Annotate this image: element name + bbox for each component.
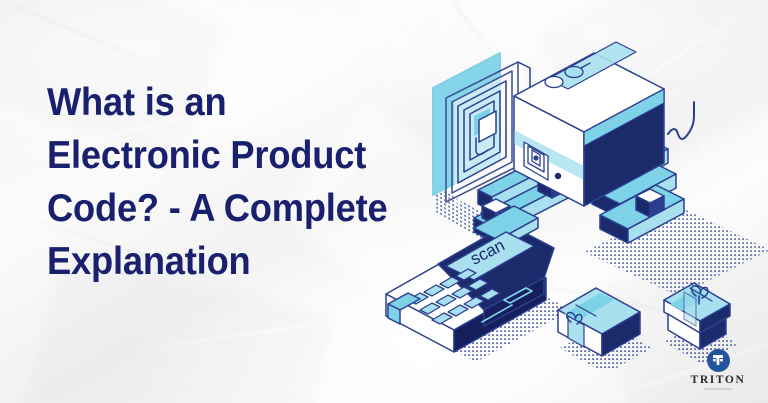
title-line-3: Code? - A Complete	[47, 182, 382, 235]
pos-terminal-icon: scan	[384, 206, 572, 362]
page-title: What is an Electronic Product Code? - A …	[47, 76, 407, 288]
gift-box-wide-icon	[558, 288, 652, 368]
triton-logo[interactable]: TRITON TECHNOLOGIES	[686, 349, 750, 392]
title-line-2: Electronic Product	[47, 129, 382, 182]
triton-badge-icon	[707, 349, 730, 372]
title-line-4: Explanation	[47, 235, 382, 288]
logo-wordmark: TRITON	[691, 375, 746, 387]
hero-illustration: scan	[378, 38, 768, 368]
logo-tagline: TECHNOLOGIES	[704, 388, 733, 391]
title-line-1: What is an	[47, 76, 382, 129]
banner: What is an Electronic Product Code? - A …	[0, 0, 768, 403]
